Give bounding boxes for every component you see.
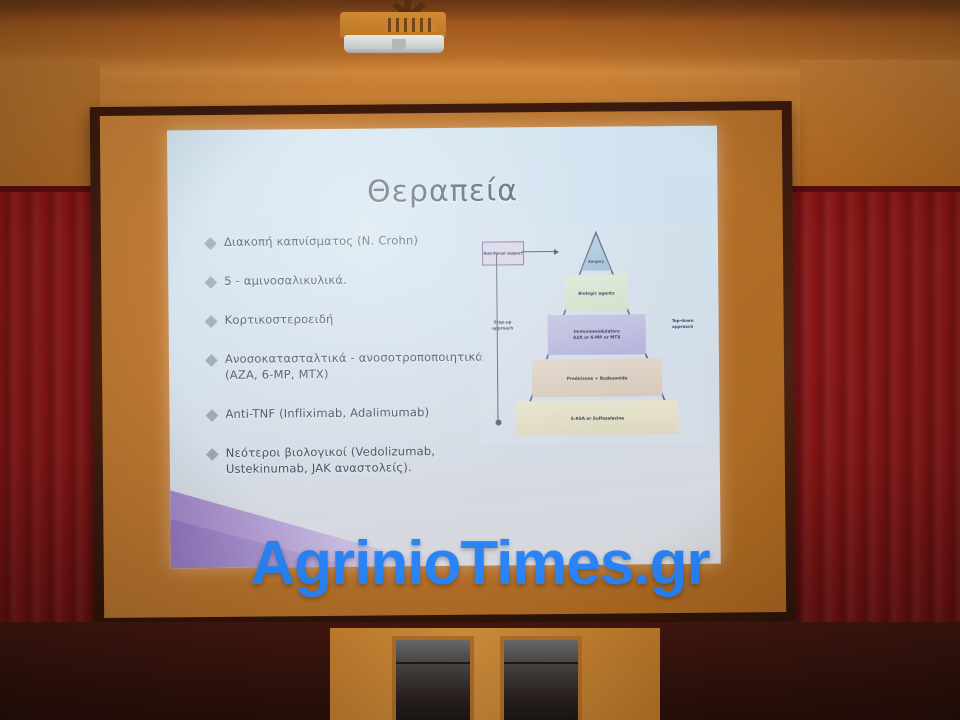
bullet-text: 5 - αμινοσαλικυλικά. [224, 272, 347, 289]
bullet-line-1: Διακοπή καπνίσματος (Ν. Crohn) [224, 233, 418, 249]
door-mullion [396, 662, 470, 664]
treatment-pyramid-diagram: Nutritional support Step-up approach Top… [478, 222, 704, 446]
diamond-bullet-icon [204, 237, 217, 250]
pyramid-layer-immunomodulators: Immunomodulators AZA or 6-MP or MTX [548, 314, 646, 355]
projector-vent-grille [388, 18, 436, 32]
bullet-text: Διακοπή καπνίσματος (Ν. Crohn) [224, 232, 418, 250]
diamond-bullet-icon [205, 315, 218, 328]
pyramid-layer-label: Prednisone + Budesonide [567, 375, 628, 381]
list-item: Ανοσοκατασταλτικά - ανοσοτροποποιητικά (… [207, 348, 507, 383]
lecture-hall-photo: Θεραπεία Διακοπή καπνίσματος (Ν. Crohn) … [0, 0, 960, 720]
wall-right-panel [800, 60, 960, 188]
pyramid-layer-label: Biologic agents [578, 290, 614, 295]
pyramid-layer-label: 5-ASA or Sulfasalazine [571, 415, 624, 420]
bullet-text: Ανοσοκατασταλτικά - ανοσοτροποποιητικά (… [225, 349, 484, 383]
door-glass-right [500, 636, 582, 720]
bullet-text: Κορτικοστεροειδή [225, 311, 334, 328]
pyramid-shape: Surgery Biologic agents Immunomodulators… [514, 228, 680, 435]
bullet-line-1: Ανοσοκατασταλτικά - ανοσοτροποποιητικά [225, 350, 483, 366]
watermark: AgrinioTimes.gr [0, 528, 960, 599]
door-panel-wall [330, 628, 660, 720]
pyramid-layer-aminosalicylates: 5-ASA or Sulfasalazine [516, 400, 678, 435]
door-glass-left [392, 636, 474, 720]
list-item: 5 - αμινοσαλικυλικά. [206, 270, 506, 289]
pyramid-layer-sublabel: AZA or 6-MP or MTX [573, 334, 620, 340]
list-item: Κορτικοστεροειδή [207, 309, 507, 328]
list-item: Anti-TNF (Infliximab, Adalimumab) [207, 403, 507, 422]
bullet-line-1: Anti-TNF (Infliximab, Adalimumab) [225, 405, 429, 421]
presentation-slide: Θεραπεία Διακοπή καπνίσματος (Ν. Crohn) … [167, 126, 721, 569]
ceiling-shadow [0, 0, 960, 22]
list-item: Διακοπή καπνίσματος (Ν. Crohn) [206, 231, 506, 250]
diamond-bullet-icon [204, 276, 217, 289]
bullet-line-2: Ustekinumab, JAK αναστολείς). [226, 459, 436, 477]
pyramid-layer-label: Surgery [588, 260, 604, 264]
wall-left-panel [0, 60, 100, 188]
diamond-bullet-icon [206, 448, 219, 461]
diamond-bullet-icon [205, 354, 218, 367]
projector-lens-icon [392, 39, 406, 50]
bullet-text: Anti-TNF (Infliximab, Adalimumab) [225, 404, 429, 422]
bullet-line-1: Νεότεροι βιολογικοί (Vedolizumab, [226, 444, 436, 460]
bullet-line-2: (AZA, 6-MP, MTX) [225, 365, 483, 383]
bullet-line-1: Κορτικοστεροειδή [225, 312, 334, 327]
list-item: Νεότεροι βιολογικοί (Vedolizumab, Usteki… [208, 442, 508, 477]
slide-title: Θεραπεία [167, 172, 717, 212]
callout-bracket-line [496, 254, 498, 424]
bullet-list: Διακοπή καπνίσματος (Ν. Crohn) 5 - αμινο… [206, 231, 508, 500]
pyramid-layer-steroids: Prednisone + Budesonide [532, 358, 662, 397]
diamond-bullet-icon [206, 409, 219, 422]
pyramid-layer-biologics: Biologic agents [565, 274, 627, 311]
door-mullion [504, 662, 578, 664]
bullet-line-1: 5 - αμινοσαλικυλικά. [224, 273, 347, 288]
bullet-text: Νεότεροι βιολογικοί (Vedolizumab, Usteki… [226, 443, 436, 477]
